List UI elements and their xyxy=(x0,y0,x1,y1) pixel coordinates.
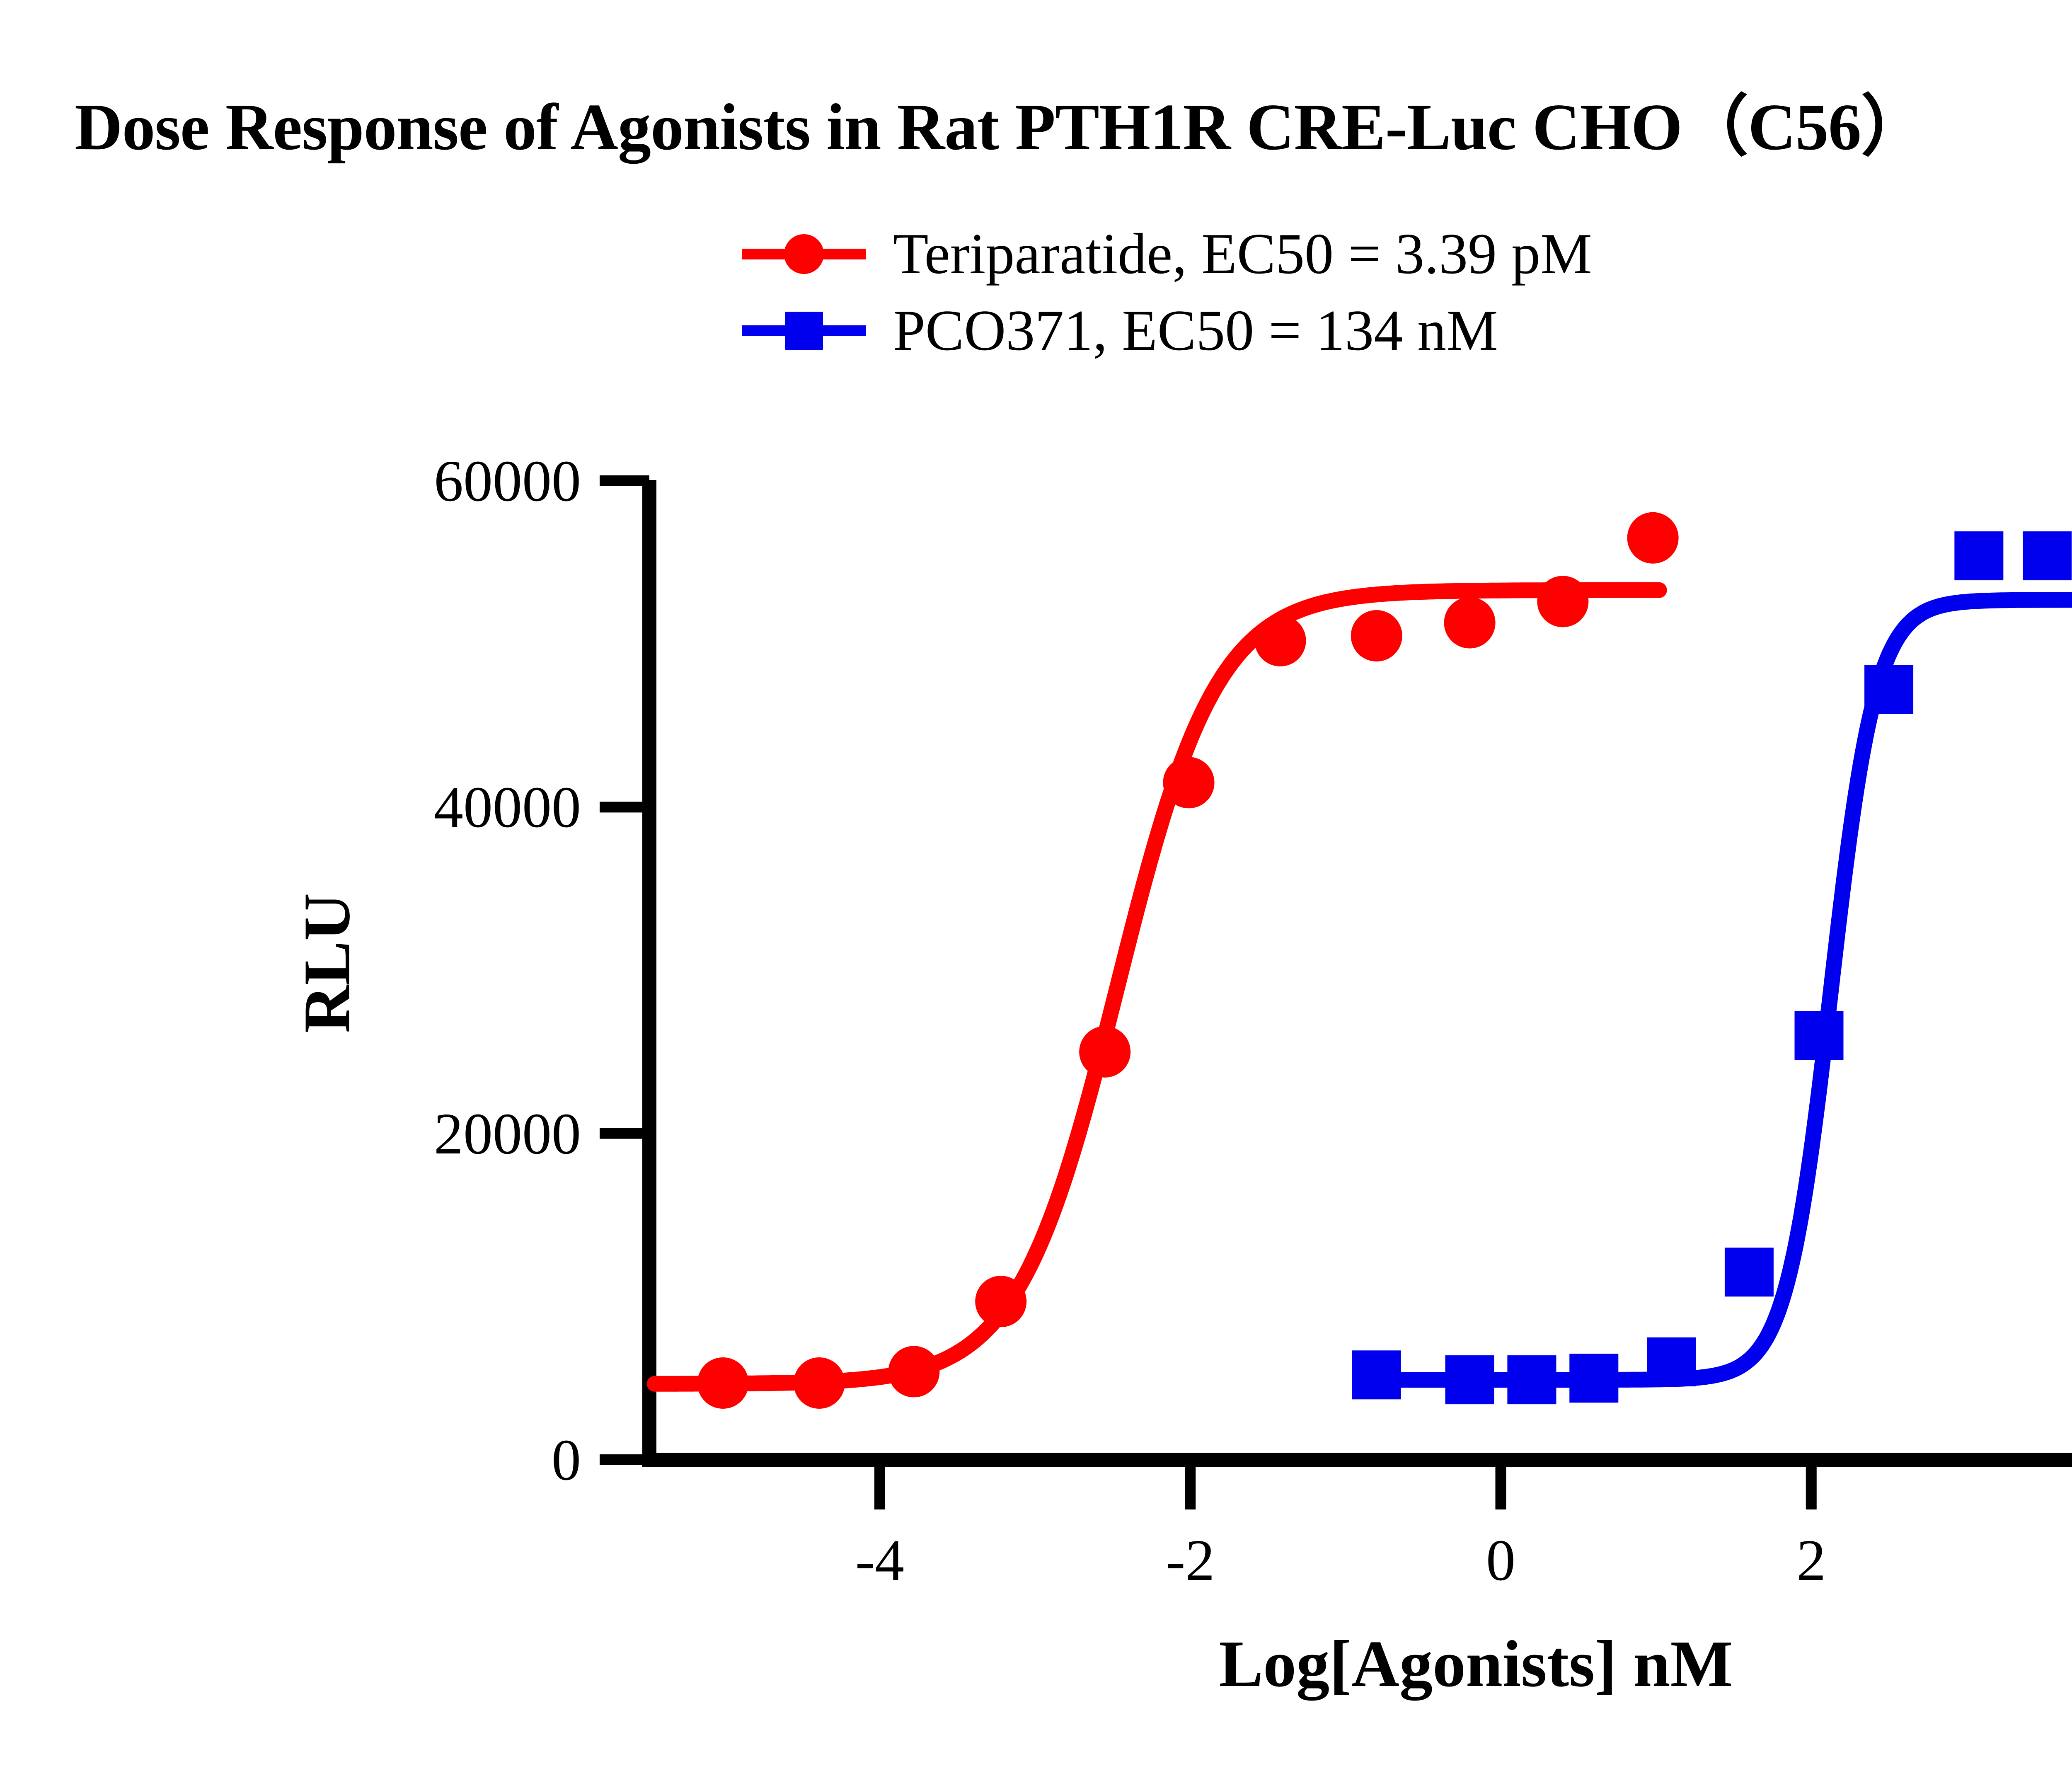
data-point-pco371-9 xyxy=(2023,531,2072,580)
y-axis-tick-label-3: 60000 xyxy=(434,447,581,515)
y-axis-tick-label-1: 20000 xyxy=(434,1100,581,1168)
data-point-teriparatide-1 xyxy=(794,1357,845,1409)
data-point-pco371-0 xyxy=(1352,1350,1401,1399)
data-point-teriparatide-8 xyxy=(1444,597,1496,648)
y-axis-tick-label-2: 40000 xyxy=(434,773,581,841)
data-point-pco371-5 xyxy=(1725,1248,1774,1296)
fit-curve-teriparatide xyxy=(655,590,1659,1384)
data-point-pco371-4 xyxy=(1647,1337,1696,1386)
y-axis-tick-label-0: 0 xyxy=(552,1426,581,1494)
x-axis-tick-label-0: -4 xyxy=(855,1526,904,1594)
chart-figure: Dose Response of Agonists in Rat PTH1R C… xyxy=(0,0,2072,1788)
data-point-teriparatide-3 xyxy=(975,1276,1026,1327)
data-point-pco371-8 xyxy=(1954,531,2003,580)
data-point-teriparatide-9 xyxy=(1537,576,1588,627)
data-point-teriparatide-10 xyxy=(1627,512,1679,564)
data-point-teriparatide-4 xyxy=(1079,1026,1130,1078)
data-point-pco371-7 xyxy=(1864,665,1913,714)
data-point-pco371-2 xyxy=(1507,1355,1556,1404)
x-axis-tick-label-2: 0 xyxy=(1486,1526,1515,1594)
data-point-teriparatide-2 xyxy=(888,1346,939,1397)
data-point-pco371-1 xyxy=(1445,1355,1494,1404)
x-axis-tick-label-3: 2 xyxy=(1796,1526,1826,1594)
x-axis-tick-label-1: -2 xyxy=(1166,1526,1215,1594)
data-point-pco371-3 xyxy=(1569,1354,1618,1403)
data-point-teriparatide-5 xyxy=(1163,757,1215,808)
x-axis-title: Log[Agonists] nM xyxy=(1219,1626,1733,1702)
fit-curve-pco371 xyxy=(1373,600,2072,1380)
data-point-teriparatide-7 xyxy=(1351,610,1402,661)
data-point-teriparatide-6 xyxy=(1255,615,1306,666)
data-point-pco371-6 xyxy=(1794,1011,1843,1060)
data-point-teriparatide-0 xyxy=(697,1357,749,1409)
y-axis-title: RLU xyxy=(288,893,365,1033)
